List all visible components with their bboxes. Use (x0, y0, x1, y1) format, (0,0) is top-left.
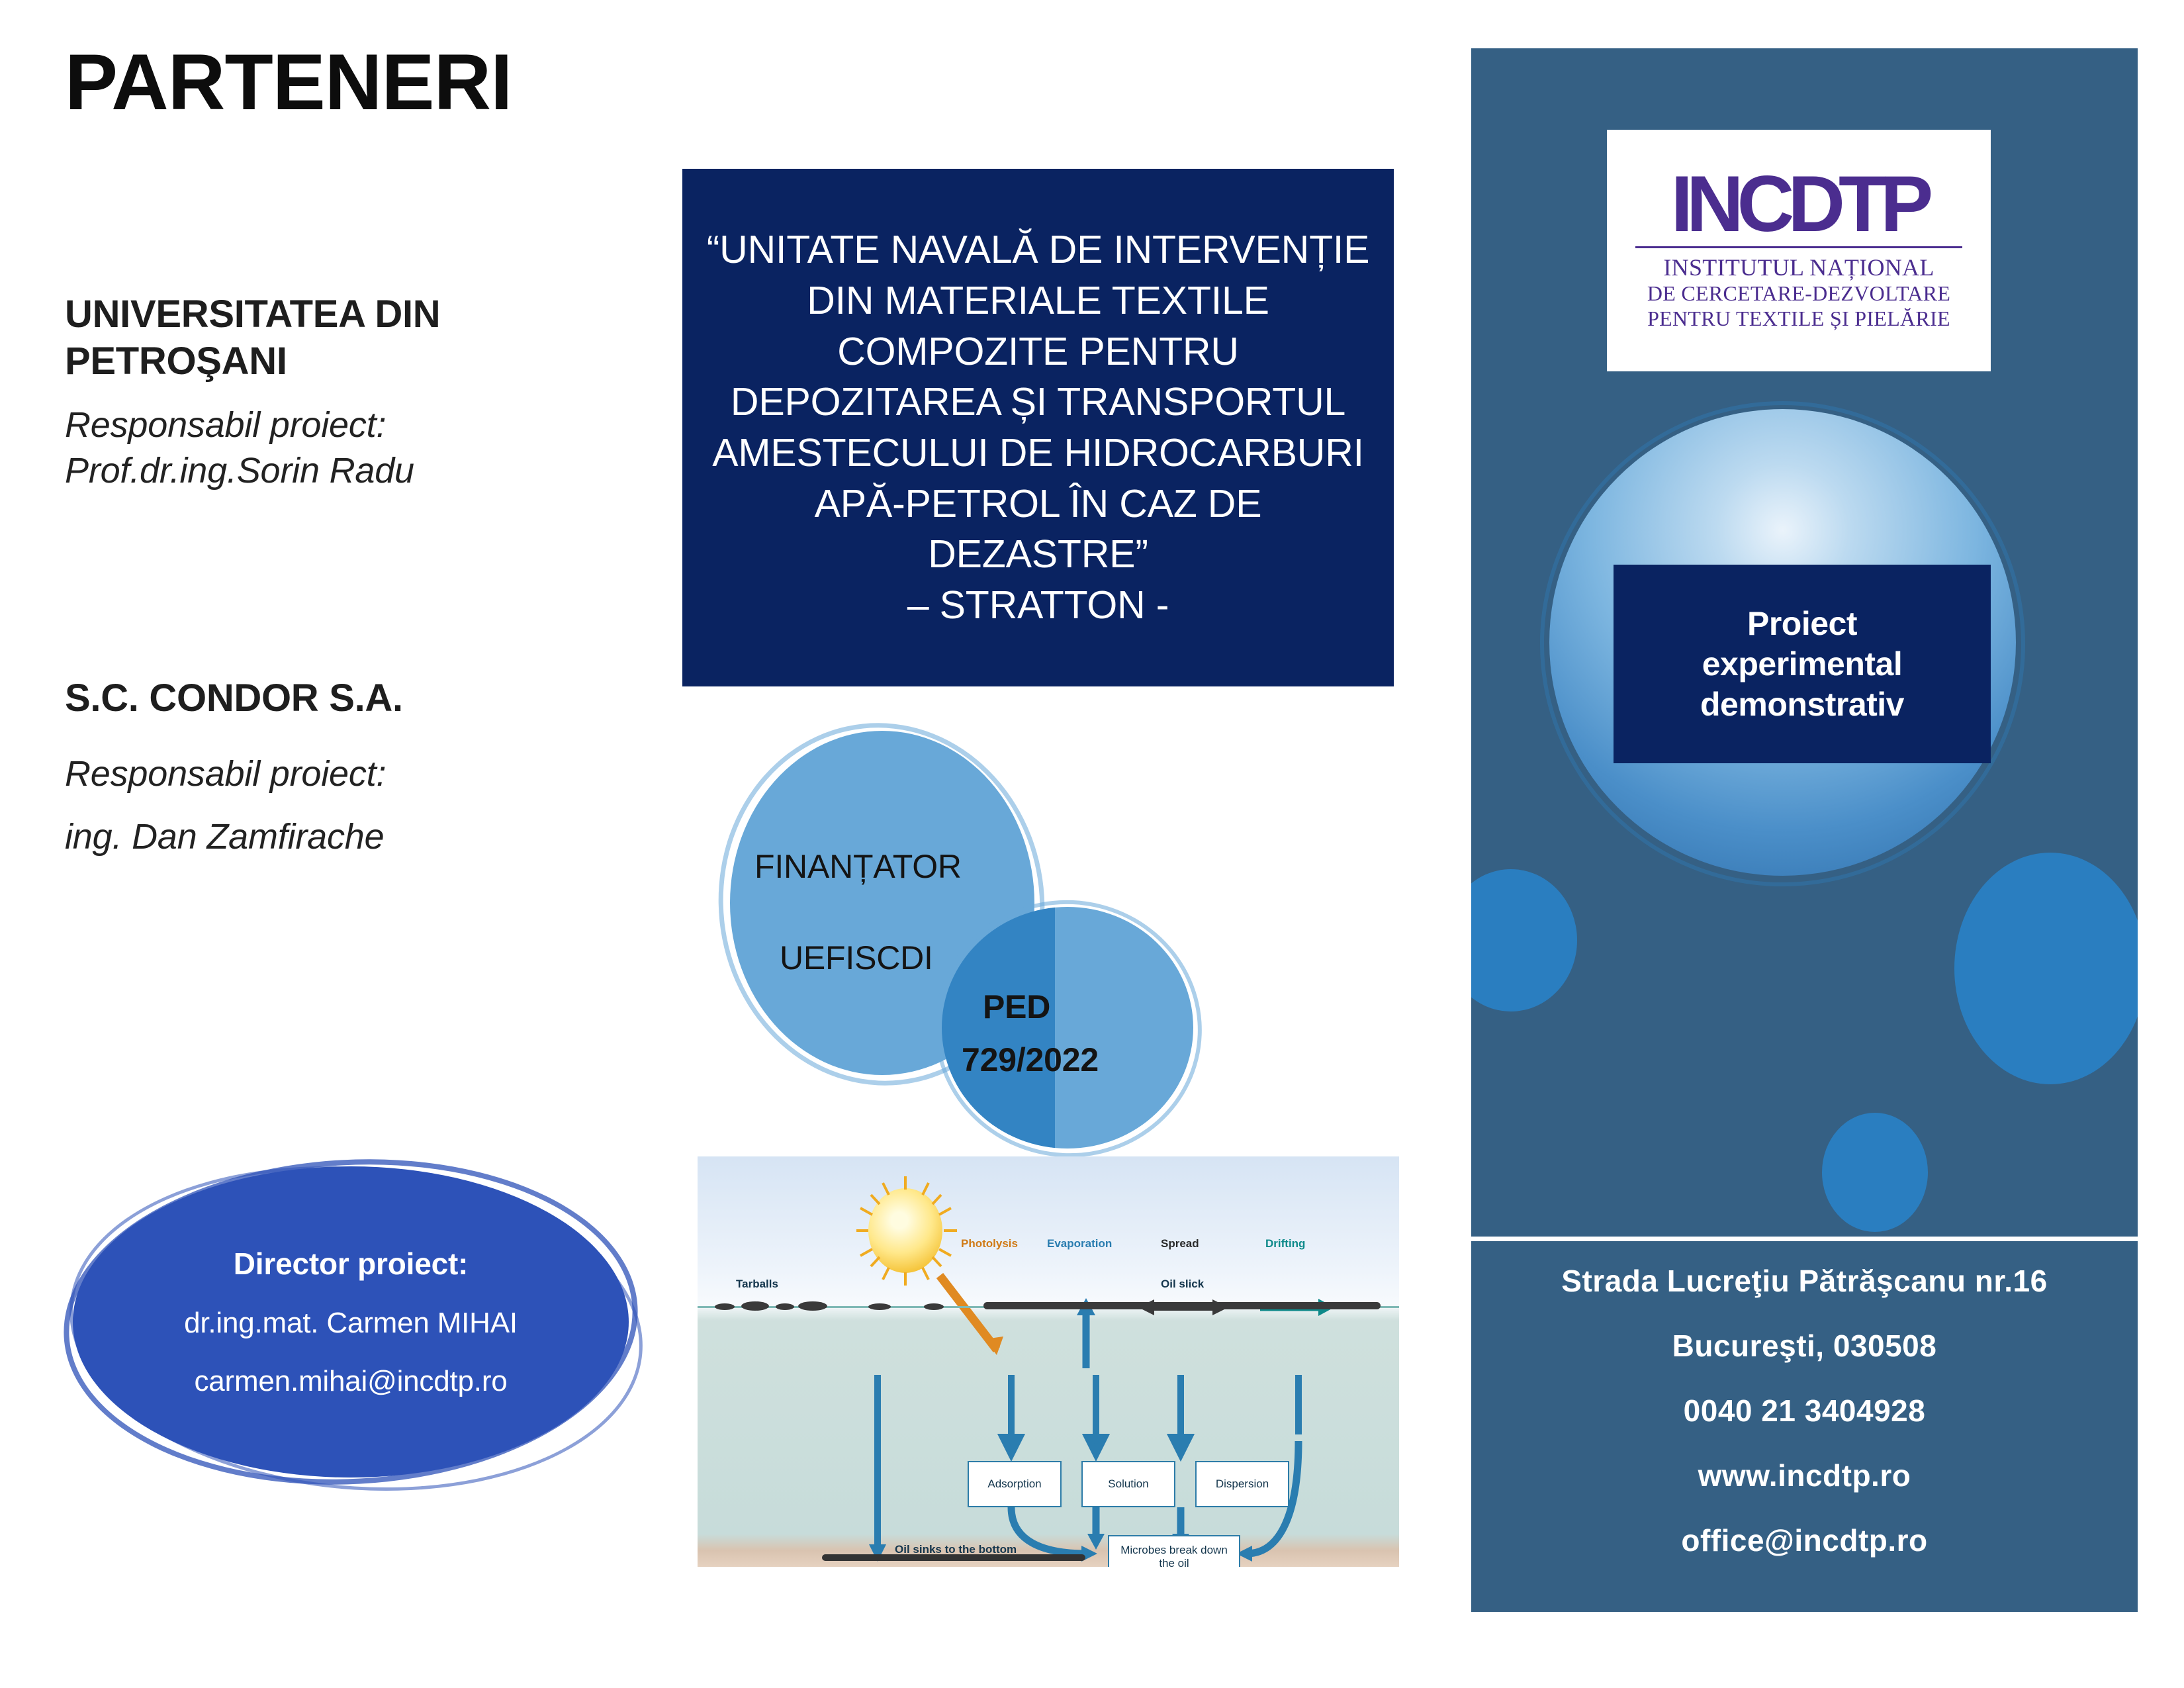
project-title-box: “UNITATE NAVALĂ DE INTERVENȚIE DIN MATER… (682, 169, 1394, 686)
contact-block: Strada Lucreţiu Pătrăşcanu nr.16 Bucureş… (1471, 1263, 2138, 1558)
label-oil-slick: Oil slick (1161, 1278, 1204, 1291)
tarball (776, 1303, 794, 1310)
project-type-line-1: Proiect (1747, 604, 1857, 644)
oil-spill-diagram: Tarballs Photolysis Evaporation Spread D… (698, 1156, 1399, 1567)
project-type-line-3: demonstrativ (1700, 684, 1904, 725)
panel-divider (1471, 1237, 2138, 1241)
partner-name: S.C. CONDOR S.A. (65, 675, 594, 722)
project-title: “UNITATE NAVALĂ DE INTERVENȚIE DIN MATER… (701, 224, 1375, 631)
box-dispersion: Dispersion (1195, 1461, 1289, 1507)
tarball (868, 1303, 891, 1310)
logo-name-line-2: DE CERCETARE-DEZVOLTARE (1647, 281, 1950, 306)
director-badge: Director proiect: dr.ing.mat. Carmen MIH… (73, 1166, 629, 1477)
decorative-circle (1822, 1113, 1928, 1232)
label-photolysis: Photolysis (961, 1237, 1018, 1250)
director-label: Director proiect: (234, 1246, 468, 1282)
incdtp-logo-mark: INCDTP (1671, 168, 1927, 240)
decorative-circle (1471, 869, 1577, 1011)
box-solution: Solution (1081, 1461, 1175, 1507)
contact-city: Bucureşti, 030508 (1672, 1328, 1937, 1364)
logo-name-line-1: INSTITUTUL NAȚIONAL (1663, 254, 1934, 281)
project-type-line-2: experimental (1702, 644, 1902, 684)
page-title: PARTENERI (65, 42, 512, 122)
partner-person-name: Prof.dr.ing.Sorin Radu (65, 448, 594, 494)
funder-label: FINANȚATOR (754, 847, 962, 886)
left-column: PARTENERI UNIVERSITATEA DIN PETROŞANI Re… (0, 0, 682, 1688)
director-name: dr.ing.mat. Carmen MIHAI (184, 1307, 518, 1340)
incdtp-logo: INCDTP INSTITUTUL NAȚIONAL DE CERCETARE-… (1607, 130, 1991, 371)
funder-program: PED (983, 988, 1050, 1026)
decorative-circle (1954, 853, 2138, 1084)
director-email[interactable]: carmen.mihai@incdtp.ro (194, 1365, 507, 1398)
oil-slick-band (983, 1302, 1381, 1309)
right-panel: INCDTP INSTITUTUL NAȚIONAL DE CERCETARE-… (1471, 48, 2138, 1612)
director-badge-text: Director proiect: dr.ing.mat. Carmen MIH… (73, 1166, 629, 1477)
funder-graphic: FINANȚATOR UEFISCDI PED 729/2022 (713, 722, 1283, 1145)
partner-role-label: Responsabil proiect: (65, 402, 594, 448)
contact-street: Strada Lucreţiu Pătrăşcanu nr.16 (1561, 1263, 2047, 1299)
tarball (741, 1301, 769, 1311)
label-tarballs: Tarballs (736, 1278, 778, 1291)
center-column: “UNITATE NAVALĂ DE INTERVENȚIE DIN MATER… (682, 0, 1473, 1688)
logo-name-line-3: PENTRU TEXTILE ȘI PIELĂRIE (1647, 306, 1950, 332)
logo-divider (1635, 246, 1962, 248)
funder-contract-number: 729/2022 (962, 1041, 1099, 1079)
box-microbes: Microbes break down the oil (1108, 1535, 1240, 1567)
contact-website[interactable]: www.incdtp.ro (1698, 1458, 1911, 1493)
partner-name: UNIVERSITATEA DIN PETROŞANI (65, 291, 594, 385)
partner-role-label: Responsabil proiect: (65, 751, 594, 797)
project-type-box: Proiect experimental demonstrativ (1614, 565, 1991, 763)
label-spread: Spread (1161, 1237, 1199, 1250)
tarball (924, 1303, 944, 1310)
tarball (798, 1301, 827, 1311)
partner-block-condor: S.C. CONDOR S.A. Responsabil proiect: in… (65, 675, 594, 860)
funder-agency: UEFISCDI (780, 939, 933, 977)
partner-block-university: UNIVERSITATEA DIN PETROŞANI Responsabil … (65, 291, 594, 494)
contact-phone[interactable]: 0040 21 3404928 (1684, 1393, 1926, 1429)
contact-email[interactable]: office@incdtp.ro (1681, 1523, 1927, 1558)
label-drifting: Drifting (1265, 1237, 1305, 1250)
partner-person-name: ing. Dan Zamfirache (65, 814, 594, 860)
label-evaporation: Evaporation (1047, 1237, 1112, 1250)
settled-oil-layer (822, 1554, 1085, 1561)
tarball (715, 1303, 735, 1310)
box-adsorption: Adsorption (968, 1461, 1062, 1507)
